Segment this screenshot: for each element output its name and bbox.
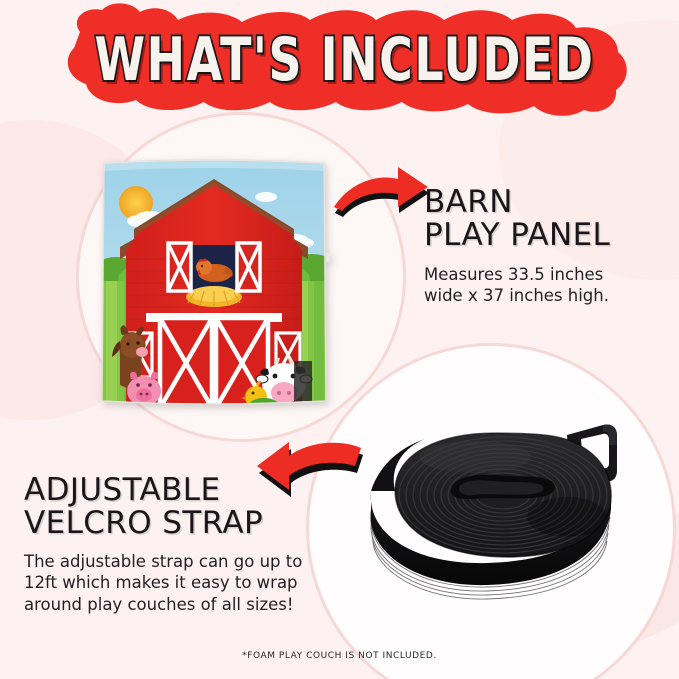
header-banner: WHAT'S INCLUDED	[52, 2, 637, 117]
footer-disclaimer: *FOAM PLAY COUCH IS NOT INCLUDED.	[0, 651, 679, 661]
barn-play-panel-photo	[98, 155, 330, 408]
strap-callout-text: ADJUSTABLE VELCRO STRAP The adjustable s…	[24, 474, 324, 615]
strap-callout-body-line3: around play couches of all sizes!	[24, 594, 324, 615]
velcro-strap-photo	[355, 405, 645, 620]
barn-callout-body-line1: Measures 33.5 inches	[424, 264, 674, 285]
strap-callout-title-line1: ADJUSTABLE	[24, 474, 324, 507]
strap-callout-body-line2: 12ft which makes it easy to wrap	[24, 572, 324, 593]
barn-callout-text: BARN PLAY PANEL Measures 33.5 inches wid…	[424, 186, 674, 307]
infographic-canvas: WHAT'S INCLUDED	[0, 0, 679, 679]
strap-callout-title: ADJUSTABLE VELCRO STRAP	[24, 474, 324, 541]
barn-callout-body-line2: wide x 37 inches high.	[424, 285, 674, 306]
barn-callout-title-line2: PLAY PANEL	[424, 219, 674, 252]
barn-callout-title: BARN PLAY PANEL	[424, 186, 674, 253]
barn-callout-body: Measures 33.5 inches wide x 37 inches hi…	[424, 264, 674, 307]
strap-callout-body: The adjustable strap can go up to 12ft w…	[24, 551, 324, 615]
barn-callout-title-line1: BARN	[424, 186, 674, 219]
strap-callout-title-line2: VELCRO STRAP	[24, 507, 324, 540]
strap-callout-body-line1: The adjustable strap can go up to	[24, 551, 324, 572]
